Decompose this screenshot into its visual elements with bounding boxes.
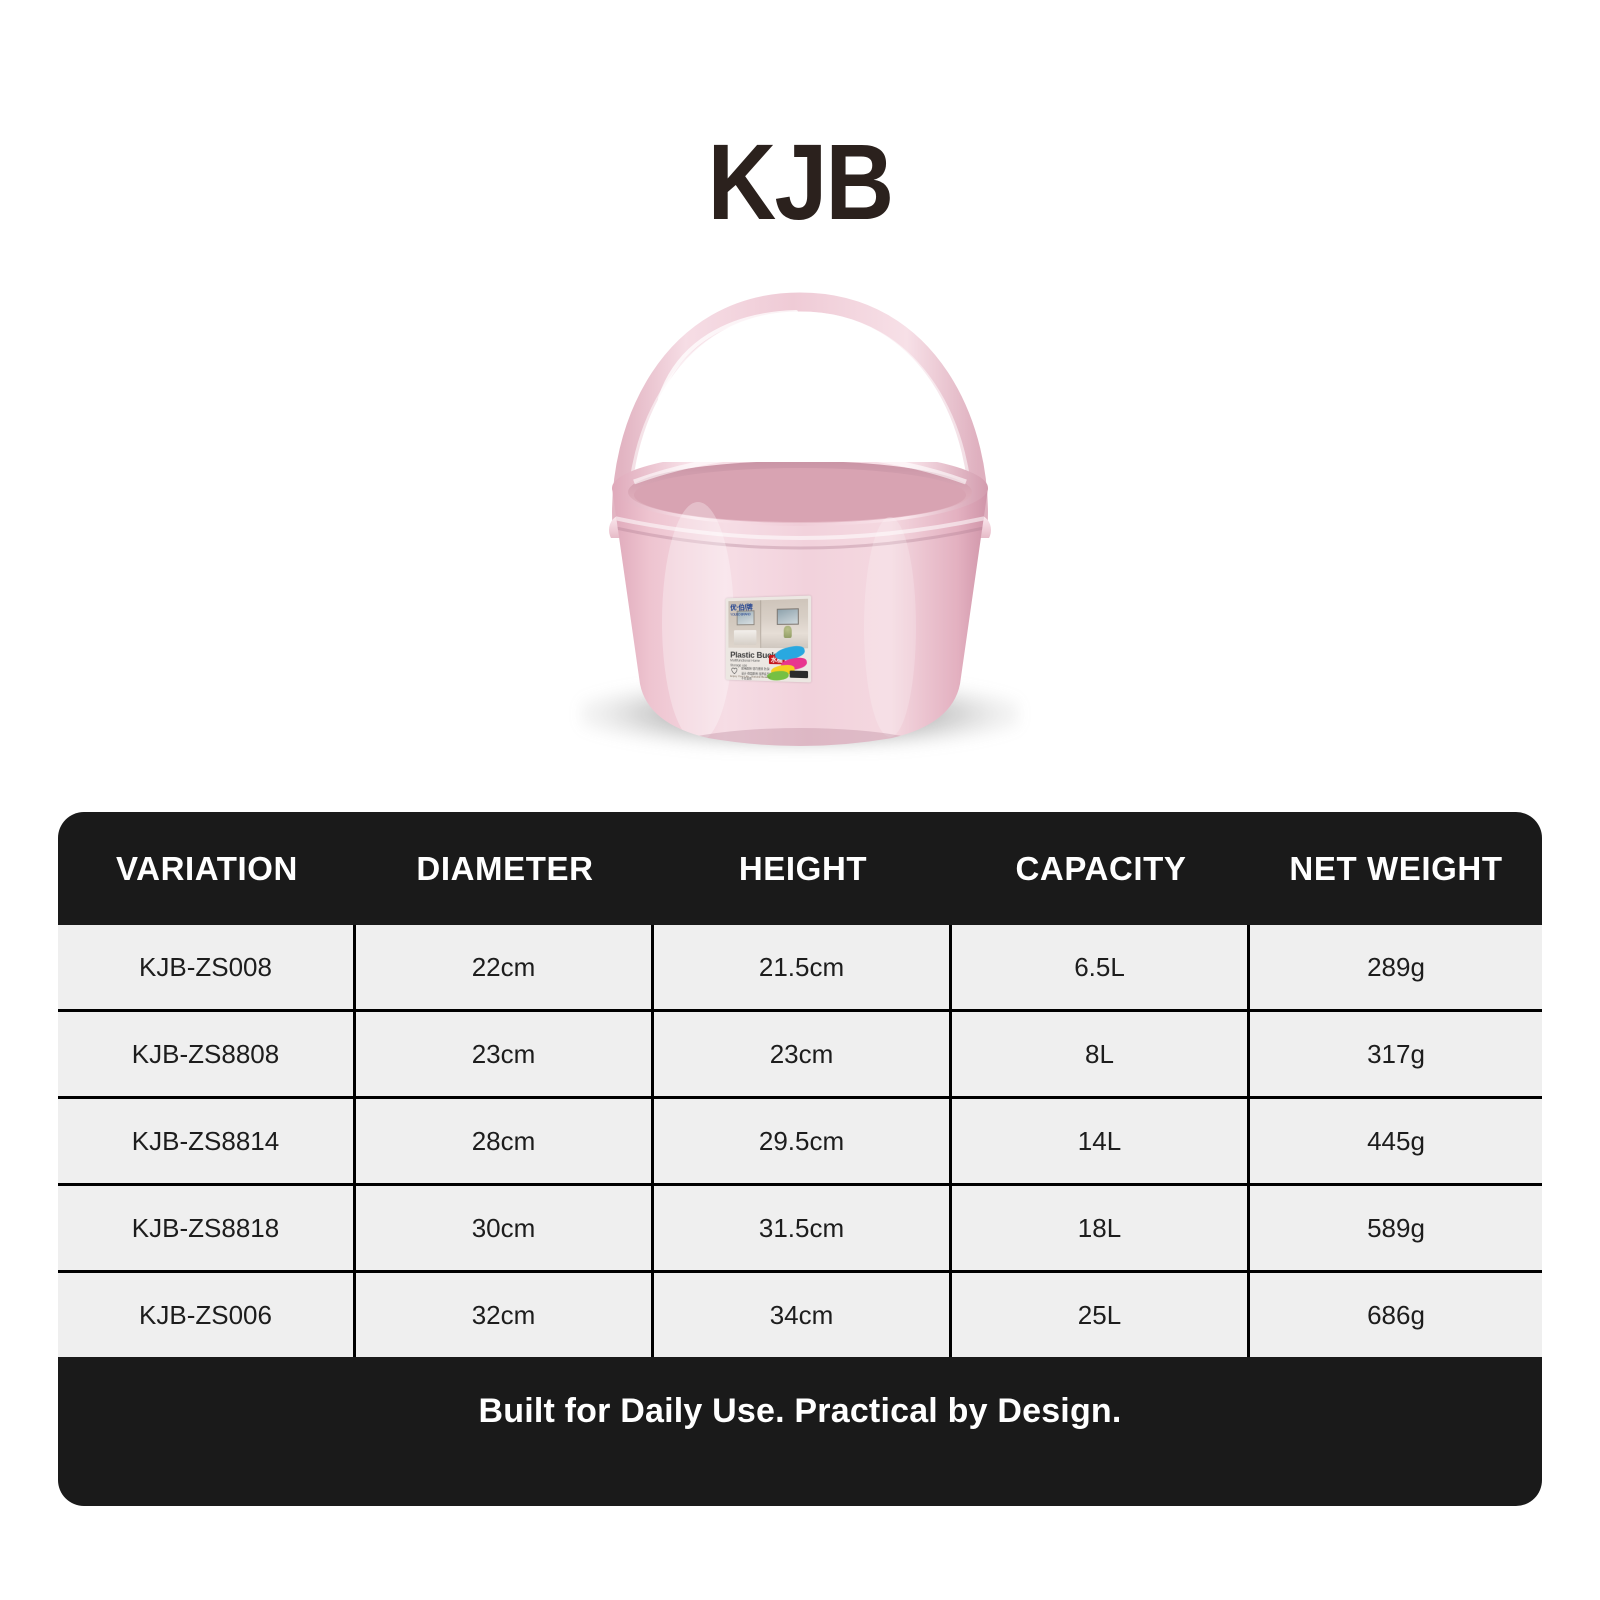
table-row: KJB-ZS008 22cm 21.5cm 6.5L 289g (58, 925, 1542, 1009)
cell-variation: KJB-ZS008 (58, 925, 356, 1009)
cell-diameter: 22cm (356, 925, 654, 1009)
cell-capacity: 14L (952, 1099, 1250, 1183)
cell-net-weight: 289g (1250, 925, 1542, 1009)
cell-variation: KJB-ZS8818 (58, 1186, 356, 1270)
table-header-row: VARIATION DIAMETER HEIGHT CAPACITY NET W… (58, 812, 1542, 925)
cell-net-weight: 317g (1250, 1012, 1542, 1096)
cell-height: 23cm (654, 1012, 952, 1096)
cell-diameter: 30cm (356, 1186, 654, 1270)
cell-capacity: 8L (952, 1012, 1250, 1096)
column-header-capacity: CAPACITY (952, 850, 1250, 888)
cell-capacity: 25L (952, 1273, 1250, 1357)
label-brand-cn: 优·伯/牌 YOUBO BRAND (730, 602, 752, 616)
brand-logo: KJB (96, 128, 1504, 236)
table-body: KJB-ZS008 22cm 21.5cm 6.5L 289g KJB-ZS88… (58, 925, 1542, 1357)
specification-table: VARIATION DIAMETER HEIGHT CAPACITY NET W… (58, 812, 1542, 1506)
label-badge (790, 671, 808, 679)
column-header-net-weight: NET WEIGHT (1250, 850, 1542, 888)
column-header-diameter: DIAMETER (356, 850, 654, 888)
table-row: KJB-ZS8818 30cm 31.5cm 18L 589g (58, 1183, 1542, 1270)
cell-height: 34cm (654, 1273, 952, 1357)
table-row: KJB-ZS8808 23cm 23cm 8L 317g (58, 1009, 1542, 1096)
table-row: KJB-ZS006 32cm 34cm 25L 686g (58, 1270, 1542, 1357)
cell-diameter: 28cm (356, 1099, 654, 1183)
cell-height: 31.5cm (654, 1186, 952, 1270)
table-footer-tagline: Built for Daily Use. Practical by Design… (58, 1357, 1542, 1465)
column-header-height: HEIGHT (654, 850, 952, 888)
cell-variation: KJB-ZS8808 (58, 1012, 356, 1096)
cell-diameter: 32cm (356, 1273, 654, 1357)
product-image: 优·伯/牌 YOUBO BRAND Plastic Bucket Multifu… (540, 270, 1060, 780)
cell-capacity: 6.5L (952, 925, 1250, 1009)
cell-diameter: 23cm (356, 1012, 654, 1096)
cell-variation: KJB-ZS8814 (58, 1099, 356, 1183)
product-label: 优·伯/牌 YOUBO BRAND Plastic Bucket Multifu… (726, 596, 811, 683)
cell-height: 29.5cm (654, 1099, 952, 1183)
cell-variation: KJB-ZS006 (58, 1273, 356, 1357)
cell-net-weight: 445g (1250, 1099, 1542, 1183)
cell-capacity: 18L (952, 1186, 1250, 1270)
table-row: KJB-ZS8814 28cm 29.5cm 14L 445g (58, 1096, 1542, 1183)
cell-net-weight: 589g (1250, 1186, 1542, 1270)
column-header-variation: VARIATION (58, 850, 356, 888)
label-footer-note: Enjoy Your Life · Natural Beauty (730, 674, 770, 679)
cell-height: 21.5cm (654, 925, 952, 1009)
cell-net-weight: 686g (1250, 1273, 1542, 1357)
